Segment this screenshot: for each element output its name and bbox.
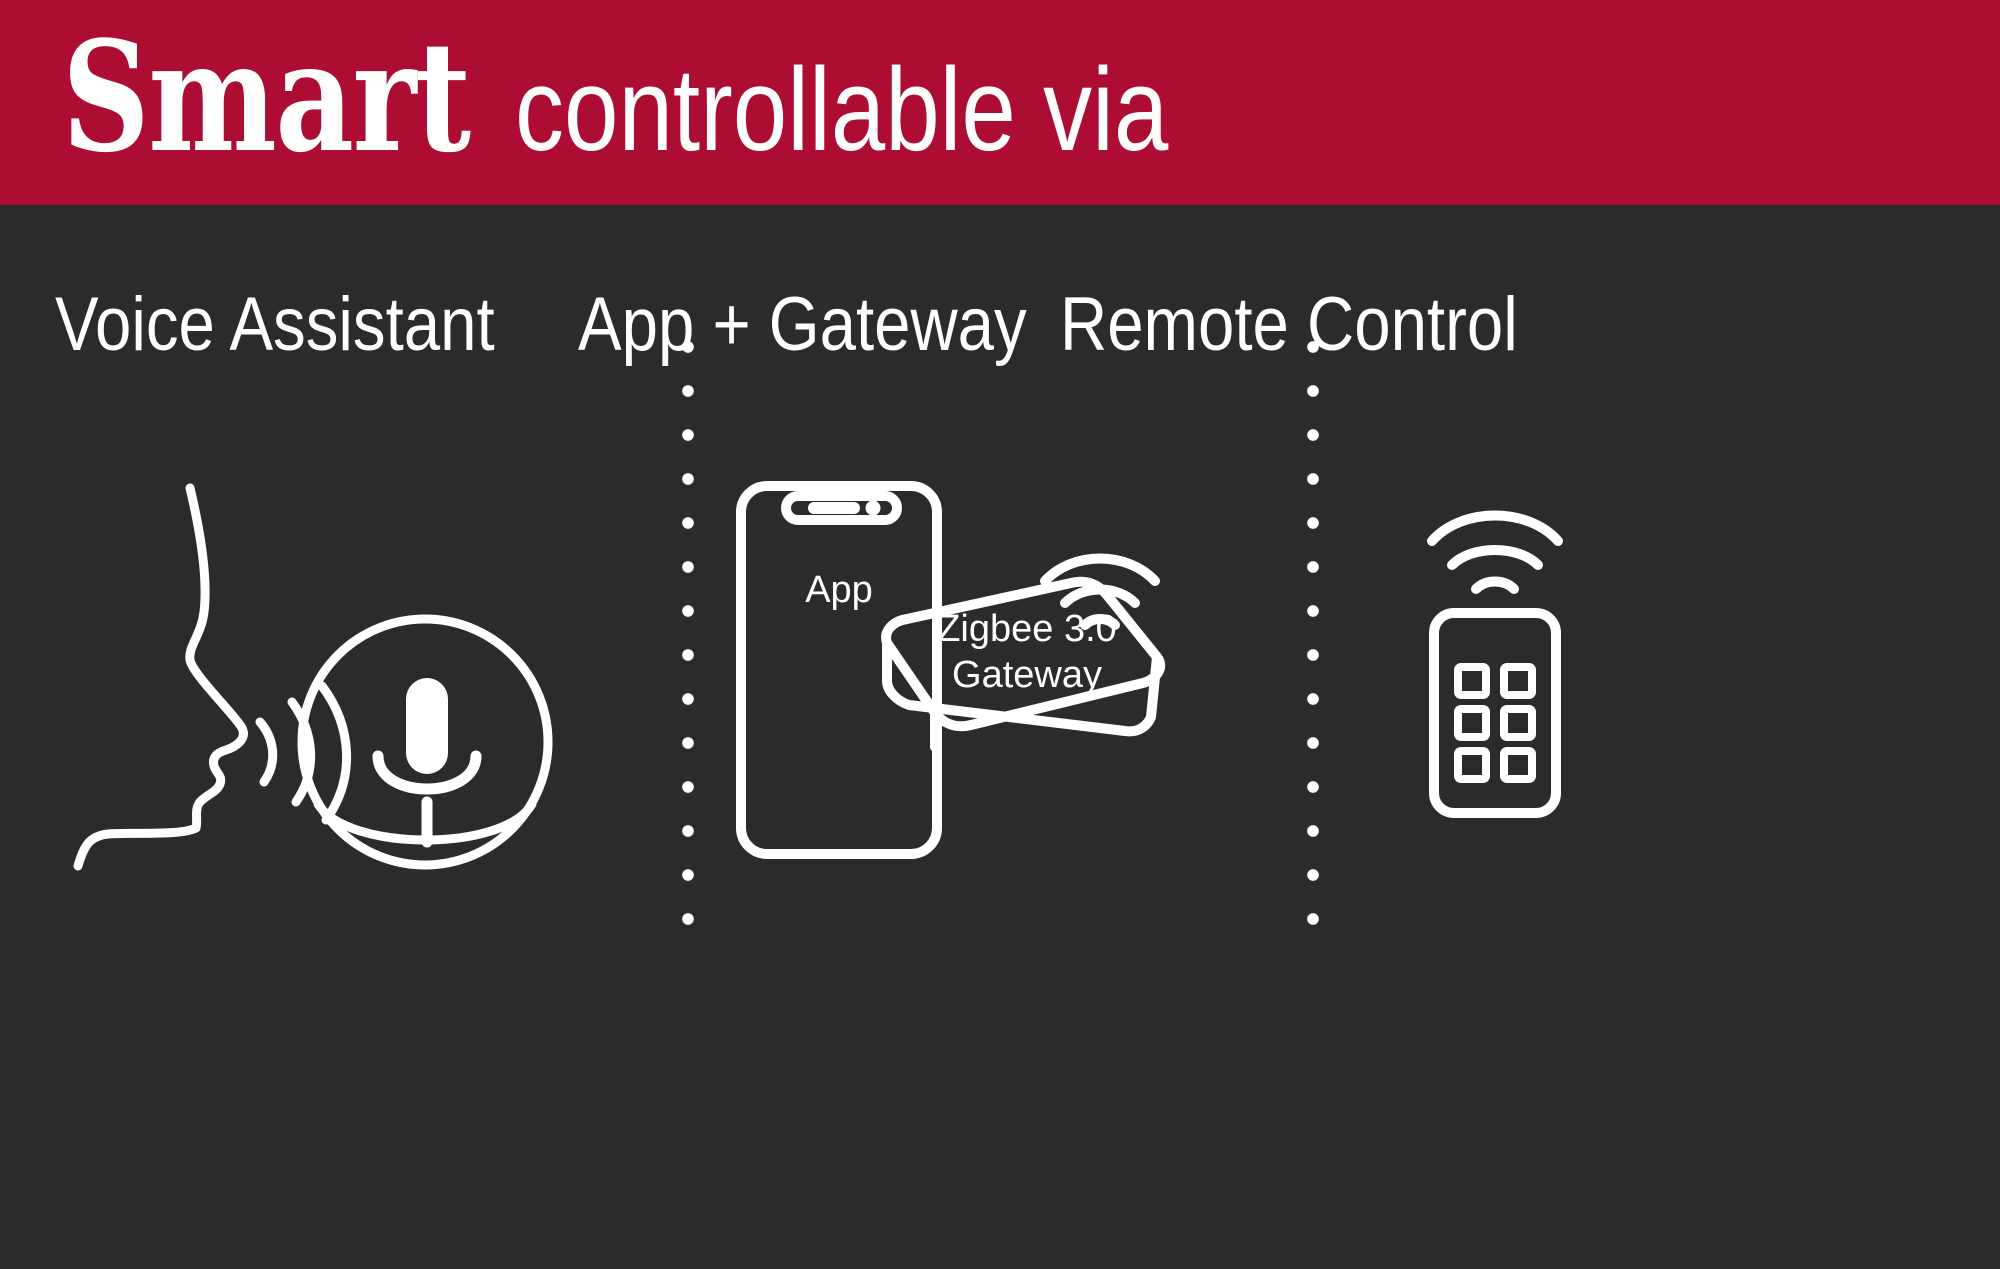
header-banner: Smart controllable via (0, 0, 2000, 205)
banner-title: Smart controllable via (62, 21, 1303, 173)
remote-control-illustration (1400, 495, 1630, 825)
column-heading-app-gateway: App + Gateway (578, 287, 1027, 363)
banner-title-light: controllable via (515, 51, 1168, 169)
voice-assistant-illustration (60, 470, 520, 870)
gateway-wifi-illustration (1035, 535, 1175, 645)
speaking-face-icon (78, 488, 243, 866)
wifi-icon (1432, 516, 1558, 590)
wifi-icon (1045, 559, 1155, 626)
remote-buttons-icon (1458, 667, 1532, 779)
phone-notch-icon (786, 496, 897, 520)
column-heading-voice-assistant: Voice Assistant (55, 287, 495, 363)
column-divider-right (1306, 340, 1320, 955)
column-divider-left (681, 340, 695, 955)
column-heading-remote-control: Remote Control (1060, 287, 1518, 363)
remote-body-icon (1434, 613, 1556, 813)
content-stage: Voice Assistant App + Gateway Remote Con… (0, 205, 2000, 1269)
microphone-icon (406, 678, 448, 774)
banner-title-strong: Smart (62, 21, 470, 173)
gateway-label-line2: Gateway (952, 654, 1102, 696)
